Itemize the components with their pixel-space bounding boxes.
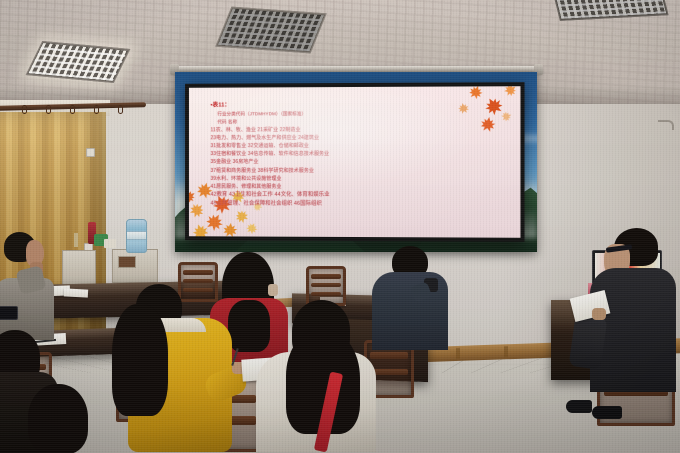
wall-switch	[86, 148, 95, 157]
slide-line-7: 39水利、环境和公共设施管理业	[210, 176, 506, 183]
slide-line-6: 37租赁和商务服务业 38科学研究和技术服务业	[210, 168, 506, 175]
slide-line-4: 33住宿和餐饮业 34信息传输、软件和信息技术服务业	[210, 151, 506, 158]
slide-line-5: 35金融业 36房地产业	[210, 159, 506, 166]
storage-cabinet	[62, 250, 96, 286]
slide-line-10: 45公共管理、社会保障和社会组织 46国际组织	[210, 201, 506, 209]
slide-line-9: 42教育 43卫生和社会工作 44文化、体育和娱乐业	[210, 192, 506, 200]
wall-bracket-icon	[658, 120, 674, 130]
water-dispenser	[126, 219, 147, 253]
cabinet-drawer	[118, 256, 136, 268]
curtain-ring-icon	[70, 105, 75, 114]
slide-line-8: 41居民服务、修理和其他服务业	[210, 184, 506, 191]
shoe	[592, 406, 622, 419]
slide-text-block: •表11： 行业分类代码（JTDMHYDM）（国家标准） 代码 名称 11农、林…	[210, 101, 506, 210]
curtain-ring-icon	[118, 105, 123, 114]
hand	[592, 308, 606, 320]
document-paper	[64, 288, 88, 297]
conference-room-photo: •表11： 行业分类代码（JTDMHYDM）（国家标准） 代码 名称 11农、林…	[0, 0, 680, 453]
projected-slide: •表11： 行业分类代码（JTDMHYDM）（国家标准） 代码 名称 11农、林…	[189, 86, 521, 238]
slide-title: •表11：	[210, 101, 506, 109]
chair[interactable]	[178, 262, 218, 302]
curtain-ring-icon	[46, 105, 51, 114]
curtain-ring-icon	[22, 105, 27, 114]
shoe	[566, 400, 592, 413]
tablet-device	[0, 306, 18, 320]
curtain-ring-icon	[94, 105, 99, 114]
slide-line-3: 31批发和零售业 32交通运输、仓储和邮政业	[210, 143, 506, 150]
ceiling-light-center	[215, 7, 326, 54]
slide-line-1: 11农、林、牧、渔业 21采矿业 22制造业	[210, 126, 506, 133]
slide-subtitle: 行业分类代码（JTDMHYDM）（国家标准）	[210, 111, 506, 118]
slide-line-2: 23电力、热力、燃气及水生产和供应业 24建筑业	[210, 135, 506, 142]
hand	[268, 284, 278, 296]
slide-header: 代码 名称	[210, 119, 506, 126]
white-box	[104, 239, 116, 248]
projection-screen[interactable]: •表11： 行业分类代码（JTDMHYDM）（国家标准） 代码 名称 11农、林…	[185, 82, 525, 242]
brush-holder	[74, 233, 78, 247]
